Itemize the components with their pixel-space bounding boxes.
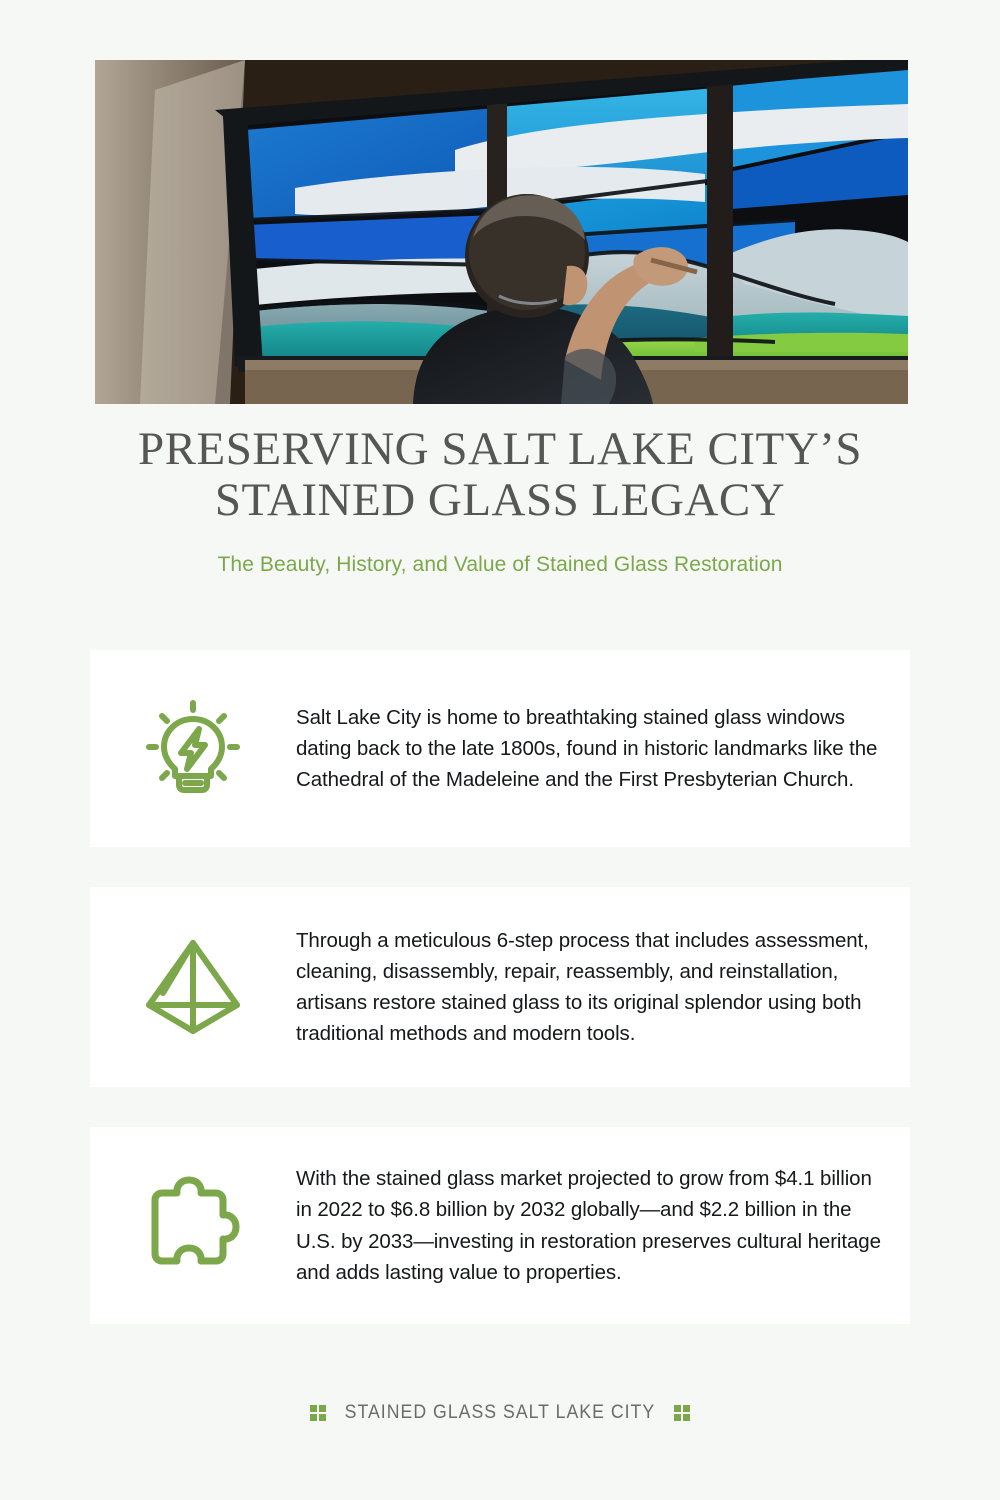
- page-title-line-1: PRESERVING SALT LAKE CITY’S: [60, 424, 940, 475]
- footer-brand: STAINED GLASS SALT LAKE CITY: [345, 1402, 655, 1424]
- info-card-1-icon: [90, 697, 296, 801]
- stained-glass-restoration-photo: [95, 60, 908, 404]
- info-card-2-icon: [90, 935, 296, 1039]
- grid-squares-icon-right: [674, 1405, 691, 1422]
- infographic-page: PRESERVING SALT LAKE CITY’S STAINED GLAS…: [0, 0, 1000, 1500]
- info-card-3: With the stained glass market projected …: [90, 1127, 910, 1324]
- cards-list: Salt Lake City is home to breathtaking s…: [90, 650, 910, 1364]
- footer: STAINED GLASS SALT LAKE CITY: [0, 1402, 1000, 1424]
- info-card-2: Through a meticulous 6-step process that…: [90, 887, 910, 1087]
- info-card-1: Salt Lake City is home to breathtaking s…: [90, 650, 910, 847]
- page-title: PRESERVING SALT LAKE CITY’S STAINED GLAS…: [0, 424, 1000, 526]
- hero-image: [95, 60, 908, 404]
- page-subtitle: The Beauty, History, and Value of Staine…: [0, 553, 1000, 577]
- pyramid-wireframe-icon: [141, 935, 245, 1039]
- lightbulb-idea-icon: [141, 697, 245, 801]
- info-card-3-text: With the stained glass market projected …: [296, 1163, 910, 1288]
- page-title-line-2: STAINED GLASS LEGACY: [60, 475, 940, 526]
- info-card-1-text: Salt Lake City is home to breathtaking s…: [296, 702, 910, 795]
- info-card-2-text: Through a meticulous 6-step process that…: [296, 925, 910, 1050]
- header-block: PRESERVING SALT LAKE CITY’S STAINED GLAS…: [0, 424, 1000, 577]
- grid-squares-icon-left: [310, 1405, 327, 1422]
- puzzle-piece-icon: [141, 1174, 245, 1278]
- info-card-3-icon: [90, 1174, 296, 1278]
